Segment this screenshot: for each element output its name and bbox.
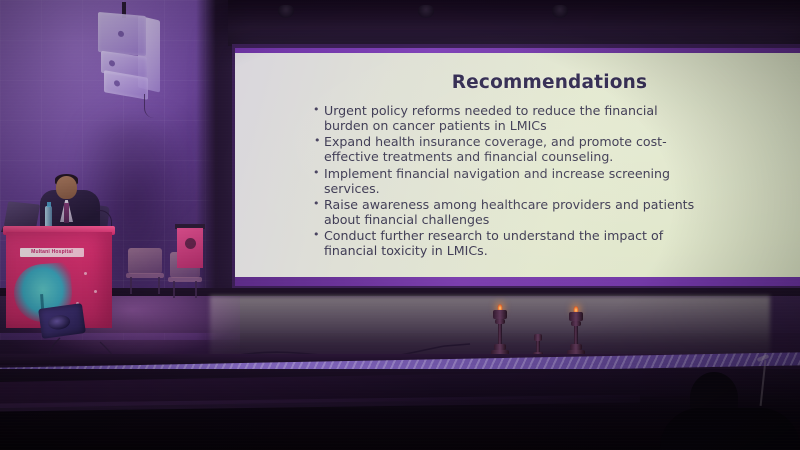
podium-sparkle: [84, 272, 87, 275]
chair-leg: [195, 281, 197, 298]
bullet-line: Expand health insurance coverage, and pr…: [324, 135, 791, 150]
speaker-driver-icon: [109, 60, 115, 67]
speaker-driver-icon: [118, 31, 124, 38]
bullet-line: services.: [324, 182, 791, 197]
presenter-tie: [64, 203, 69, 223]
ceiling-band: [228, 0, 800, 46]
slide-bullet-list: Urgent policy reforms needed to reduce t…: [313, 104, 791, 261]
slide-bullet-item: Implement financial navigation and incre…: [313, 167, 791, 197]
slide-bullet-item: Expand health insurance coverage, and pr…: [313, 135, 791, 165]
bullet-line: financial toxicity in LMICs.: [324, 244, 791, 259]
slide-bullet-item: Conduct further research to understand t…: [313, 229, 791, 259]
chevron-stripe-purple-outer: [235, 152, 272, 286]
auditorium-scene: Recommendations Urgent policy reforms ne…: [0, 0, 800, 450]
slide-bullet-item: Raise awareness among healthcare provide…: [313, 198, 791, 228]
presentation-slide: Recommendations Urgent policy reforms ne…: [235, 48, 800, 286]
chair-leg: [158, 277, 160, 294]
ceiling-spotlight: [418, 5, 434, 18]
presenter-head: [56, 176, 77, 199]
bullet-line: about financial challenges: [324, 213, 791, 228]
bullet-line: Urgent policy reforms needed to reduce t…: [324, 104, 791, 119]
bullet-line: effective treatments and financial couns…: [324, 150, 791, 165]
speaker-cable: [144, 94, 158, 118]
lamp-tier: [493, 310, 507, 319]
ceiling-spotlight: [278, 5, 294, 18]
chevron-stripe-purple-inner: [235, 137, 288, 286]
slide-bottom-band: [235, 277, 800, 286]
chevron-stripe-cyan-light: [235, 120, 308, 286]
bullet-line: Raise awareness among healthcare provide…: [324, 198, 791, 213]
podium-logo-text: Multani Hospital: [20, 248, 84, 257]
slide-title: Recommendations: [235, 72, 800, 93]
chair-leg: [173, 281, 175, 298]
chair-back: [128, 248, 162, 274]
bullet-line: Conduct further research to understand t…: [324, 229, 791, 244]
chevron-stripe-cyan: [235, 126, 301, 286]
projection-screen: Recommendations Urgent policy reforms ne…: [232, 44, 800, 294]
stage-chair: [128, 248, 162, 294]
side-podium: [177, 228, 203, 268]
bullet-line: burden on cancer patients in LMICs: [324, 119, 791, 134]
audience-silhouette-shoulders: [660, 408, 800, 450]
line-array-speaker: [96, 2, 170, 114]
ceiling-spotlight: [552, 5, 568, 18]
podium-sparkle: [94, 290, 97, 293]
chair-leg: [130, 277, 132, 294]
slide-bullet-item: Urgent policy reforms needed to reduce t…: [313, 104, 791, 134]
speaker-cabinet-top: [98, 12, 146, 56]
speaker-driver-icon: [114, 80, 120, 87]
bullet-line: Implement financial navigation and incre…: [324, 167, 791, 182]
lamp-tier: [569, 312, 583, 321]
